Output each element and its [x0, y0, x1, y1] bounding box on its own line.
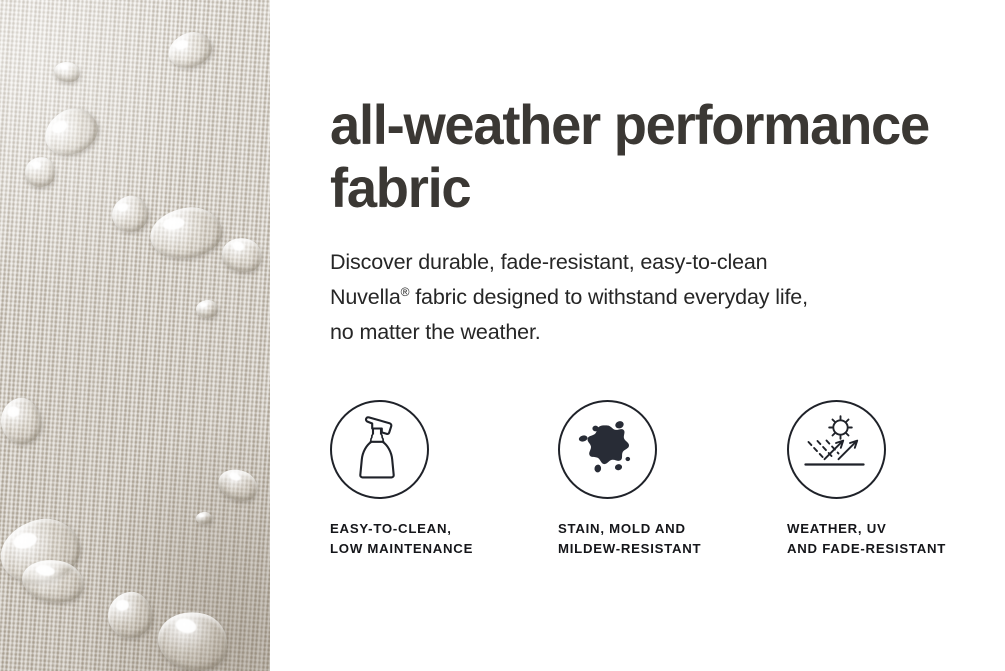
sun-uv-reflect-icon [802, 414, 872, 485]
water-droplet [196, 300, 218, 318]
feature-icon-circle [330, 400, 429, 499]
feature-list: EASY-TO-CLEAN, LOW MAINTENANCE [330, 400, 990, 580]
spray-bottle-icon [350, 414, 410, 485]
feature-easy-to-clean: EASY-TO-CLEAN, LOW MAINTENANCE [330, 400, 560, 559]
feature-caption: EASY-TO-CLEAN, LOW MAINTENANCE [330, 499, 560, 559]
feature-caption: STAIN, MOLD AND MILDEW-RESISTANT [558, 499, 788, 559]
stain-splat-icon [575, 415, 641, 484]
fabric-image-panel [0, 0, 270, 671]
content-column: all-weather performance fabric Discover … [330, 0, 990, 671]
subcopy-line-1: Discover durable, fade-resistant, easy-t… [330, 250, 768, 274]
feature-icon-circle [787, 400, 886, 499]
feature-icon-circle [558, 400, 657, 499]
subcopy-line-2: fabric designed to withstand everyday li… [409, 285, 808, 309]
page-title: all-weather performance fabric [330, 94, 951, 219]
feature-uv-fade-resistant: WEATHER, UV AND FADE-RESISTANT [787, 400, 1005, 559]
water-droplet [196, 512, 212, 524]
feature-stain-resistant: STAIN, MOLD AND MILDEW-RESISTANT [558, 400, 788, 559]
feature-caption: WEATHER, UV AND FADE-RESISTANT [787, 499, 1005, 559]
subheading-description: Discover durable, fade-resistant, easy-t… [330, 245, 960, 350]
subcopy-brand: Nuvella [330, 285, 401, 309]
subcopy-line-3: no matter the weather. [330, 320, 541, 344]
all-weather-fabric-banner: all-weather performance fabric Discover … [0, 0, 1005, 671]
